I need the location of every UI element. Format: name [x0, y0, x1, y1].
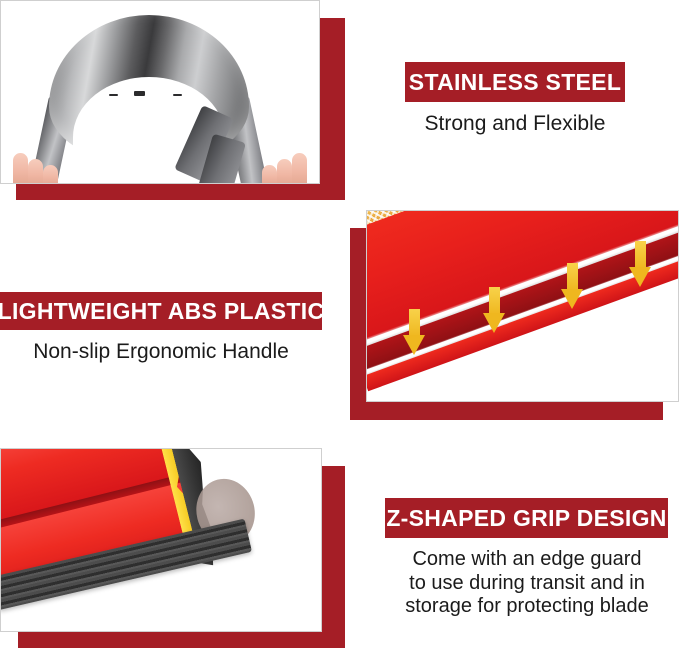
- feature-heading-stainless-steel: STAINLESS STEEL: [405, 62, 625, 102]
- feature-subtitle-z-shaped-grip-design: Come with an edge guard to use during tr…: [383, 548, 671, 619]
- infographic-page: STAINLESS STEEL Strong and Flexible LIGH…: [0, 0, 679, 648]
- finger: [28, 159, 43, 184]
- finger: [43, 165, 58, 184]
- finger: [277, 159, 292, 184]
- photo-frame-lightweight-abs-plastic: [366, 210, 679, 402]
- feature-image-lightweight-abs-plastic: [350, 210, 679, 420]
- photo-frame-z-shaped-grip-design: [0, 448, 322, 632]
- finger: [292, 153, 307, 184]
- z-grip-illustration: [1, 449, 321, 631]
- handle-bar: [367, 211, 678, 401]
- feature-subtitle-lightweight-abs-plastic: Non-slip Ergonomic Handle: [0, 340, 322, 365]
- down-arrow-icon: [561, 263, 583, 309]
- feature-heading-z-shaped-grip-design: Z-SHAPED GRIP DESIGN: [385, 498, 668, 538]
- feature-heading-lightweight-abs-plastic: LIGHTWEIGHT ABS PLASTIC: [0, 292, 322, 330]
- stainless-steel-illustration: [1, 1, 319, 183]
- down-arrow-icon: [483, 287, 505, 333]
- finger: [13, 153, 28, 184]
- feature-subtitle-stainless-steel: Strong and Flexible: [405, 112, 625, 137]
- feature-image-stainless-steel: [0, 0, 345, 200]
- down-arrow-icon: [403, 309, 425, 355]
- left-hand: [13, 141, 65, 184]
- finger: [262, 165, 277, 184]
- feature-image-z-shaped-grip-design: [0, 448, 345, 648]
- photo-frame-stainless-steel: [0, 0, 320, 184]
- down-arrow-icon: [629, 241, 651, 287]
- blade-slot-right: [173, 94, 182, 96]
- non-slip-grip-illustration: [367, 211, 678, 401]
- right-hand: [255, 141, 307, 184]
- blade-slot-left: [109, 94, 118, 96]
- blade-slot-center: [134, 91, 145, 96]
